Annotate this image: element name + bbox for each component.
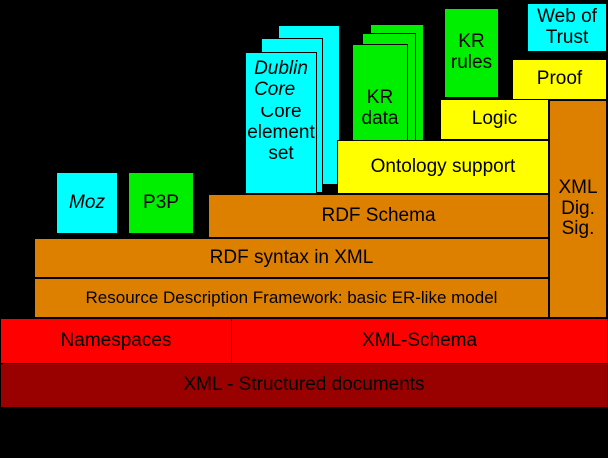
proof-box: Proof: [512, 59, 607, 100]
web-of-trust-box: Web of Trust: [527, 3, 607, 52]
rdf-schema-label: RDF Schema: [321, 206, 435, 227]
dublin-core-italic-overlay: Dublin Core: [246, 53, 316, 107]
namespaces-box: Namespaces: [0, 318, 232, 364]
p3p-label: P3P: [143, 193, 179, 214]
xml-schema-box: XML-Schema: [231, 318, 608, 364]
moz-label: Moz: [69, 193, 105, 214]
kr-rules-label: KR rules: [451, 32, 492, 73]
ontology-support-label: Ontology support: [371, 157, 516, 178]
rdf-model-label: Resource Description Framework: basic ER…: [86, 289, 498, 307]
namespaces-label: Namespaces: [61, 331, 172, 352]
xml-dig-sig-box: XML Dig. Sig.: [549, 100, 607, 318]
logic-box: Logic: [440, 99, 549, 140]
logic-label: Logic: [472, 109, 517, 130]
moz-box: Moz: [56, 172, 118, 234]
rdf-schema-box: RDF Schema: [208, 194, 549, 238]
kr-data-label: KR data: [362, 88, 399, 129]
p3p-box: P3P: [128, 172, 194, 234]
rdf-syntax-in-xml-box: RDF syntax in XML: [34, 238, 549, 278]
web-of-trust-label: Web of Trust: [537, 7, 597, 48]
proof-label: Proof: [537, 69, 582, 90]
kr-rules-box: KR rules: [444, 8, 499, 98]
xml-dig-sig-label: XML Dig. Sig.: [558, 178, 597, 240]
xml-structured-documents-box: XML - Structured documents: [0, 363, 608, 408]
ontology-support-box: Ontology support: [337, 140, 549, 194]
rdf-syntax-in-xml-label: RDF syntax in XML: [210, 248, 374, 269]
semantic-web-layer-cake-diagram: Dublin Core element set Dublin Core KR d…: [0, 0, 608, 458]
rdf-model-box: Resource Description Framework: basic ER…: [34, 278, 549, 318]
xml-structured-documents-label: XML - Structured documents: [183, 375, 424, 396]
xml-schema-label: XML-Schema: [362, 331, 477, 352]
